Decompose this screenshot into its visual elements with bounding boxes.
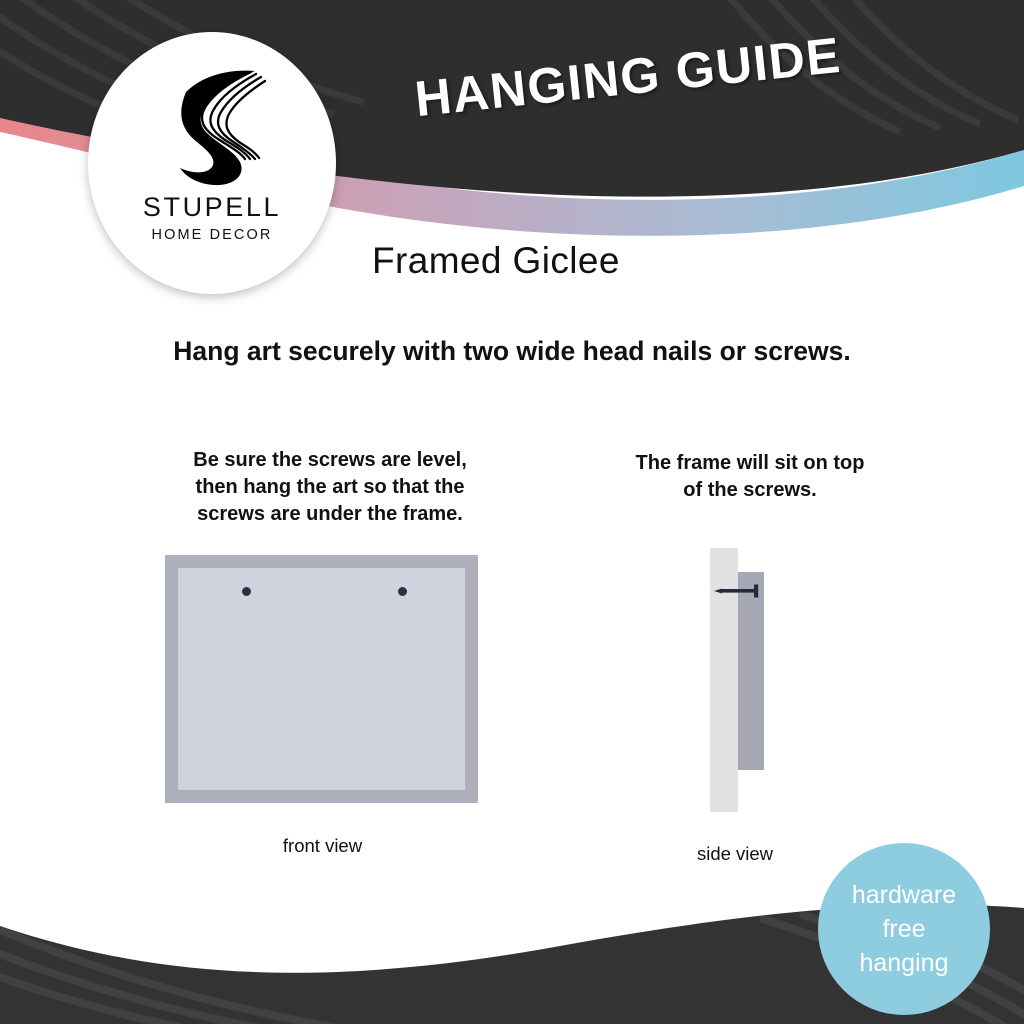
badge-line: hardware — [852, 878, 956, 912]
product-type: Framed Giclee — [372, 240, 620, 282]
hanging-guide-page: HANGING GUIDE STUPELL HOME DECOR Framed … — [0, 0, 1024, 1024]
brand-tagline: HOME DECOR — [152, 227, 273, 243]
caption-line: of the screws. — [578, 477, 922, 504]
front-view-caption: Be sure the screws are level, then hang … — [150, 447, 510, 528]
caption-line: The frame will sit on top — [578, 450, 922, 477]
screw-dot-left — [242, 587, 251, 596]
side-view-label: side view — [655, 843, 815, 865]
caption-line: then hang the art so that the — [150, 474, 510, 501]
screw-dot-right — [398, 587, 407, 596]
badge-line: hanging — [860, 946, 949, 980]
caption-line: screws are under the frame. — [150, 501, 510, 528]
badge-line: free — [882, 912, 925, 946]
nail-icon — [712, 580, 766, 602]
side-view-caption: The frame will sit on top of the screws. — [578, 450, 922, 504]
caption-line: Be sure the screws are level, — [150, 447, 510, 474]
lead-instruction: Hang art securely with two wide head nai… — [0, 336, 1024, 367]
stupell-swoosh-logo-icon — [152, 58, 272, 186]
front-view-frame-diagram — [165, 555, 478, 803]
front-view-label: front view — [165, 835, 480, 857]
brand-logo-badge: STUPELL HOME DECOR — [88, 32, 336, 294]
brand-name: STUPELL — [143, 192, 281, 223]
hardware-free-hanging-badge: hardware free hanging — [818, 843, 990, 1015]
frame-artwork-area — [178, 568, 465, 790]
